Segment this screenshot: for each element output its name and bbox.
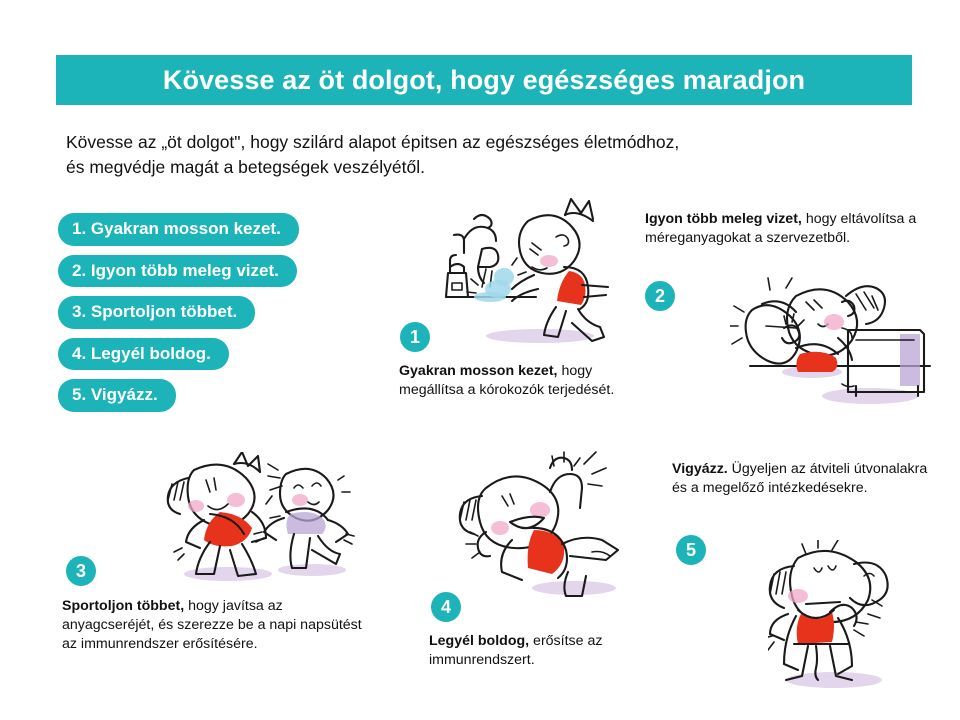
- intro-line-1: Kövesse az „öt dolgot", hogy szilárd ala…: [66, 130, 926, 155]
- caption-panel-2: Igyon több meleg vizet, hogy eltávolítsa…: [645, 210, 925, 248]
- list-item-step-5[interactable]: 5. Vigyázz.: [58, 379, 176, 412]
- page-title: Kövesse az öt dolgot, hogy egészséges ma…: [163, 67, 805, 94]
- caption-panel-4: Legyél boldog, erősítse az immunrendszer…: [429, 632, 649, 670]
- intro-line-2: és megvédje magát a betegségek veszélyét…: [66, 155, 926, 180]
- caption-heading-4: Legyél boldog,: [429, 633, 529, 649]
- list-item-step-3[interactable]: 3. Sportoljon többet.: [58, 296, 255, 329]
- drinking-water-illustration: [730, 268, 952, 430]
- exercising-illustration: [148, 452, 374, 592]
- caption-panel-3: Sportoljon többet, hogy javítsa az anyag…: [62, 597, 362, 654]
- be-careful-illustration: [768, 540, 960, 705]
- list-item-step-2[interactable]: 2. Igyon több meleg vizet.: [58, 255, 297, 288]
- caption-heading-1: Gyakran mosson kezet,: [399, 363, 558, 379]
- badge-number-3: 3: [66, 556, 96, 586]
- badge-number-2: 2: [645, 281, 675, 311]
- caption-panel-1: Gyakran mosson kezet, hogy megállítsa a …: [399, 362, 631, 400]
- header-banner: Kövesse az öt dolgot, hogy egészséges ma…: [56, 55, 912, 105]
- list-item-step-4[interactable]: 4. Legyél boldog.: [58, 338, 229, 371]
- badge-number-1: 1: [400, 322, 430, 352]
- infographic-poster: Kövesse az öt dolgot, hogy egészséges ma…: [0, 0, 960, 720]
- caption-panel-5: Vigyázz. Ügyeljen az átviteli útvonalakr…: [672, 460, 940, 498]
- badge-number-4: 4: [431, 592, 461, 622]
- list-item-step-1[interactable]: 1. Gyakran mosson kezet.: [58, 213, 299, 246]
- happy-person-illustration: [432, 448, 644, 598]
- badge-number-5: 5: [676, 535, 706, 565]
- intro-paragraph: Kövesse az „öt dolgot", hogy szilárd ala…: [66, 130, 926, 181]
- caption-heading-5: Vigyázz.: [672, 461, 728, 477]
- caption-heading-3: Sportoljon többet,: [62, 598, 184, 614]
- caption-heading-2: Igyon több meleg vizet,: [645, 211, 802, 227]
- steps-list: 1. Gyakran mosson kezet. 2. Igyon több m…: [58, 213, 299, 412]
- handwashing-illustration: [432, 193, 632, 353]
